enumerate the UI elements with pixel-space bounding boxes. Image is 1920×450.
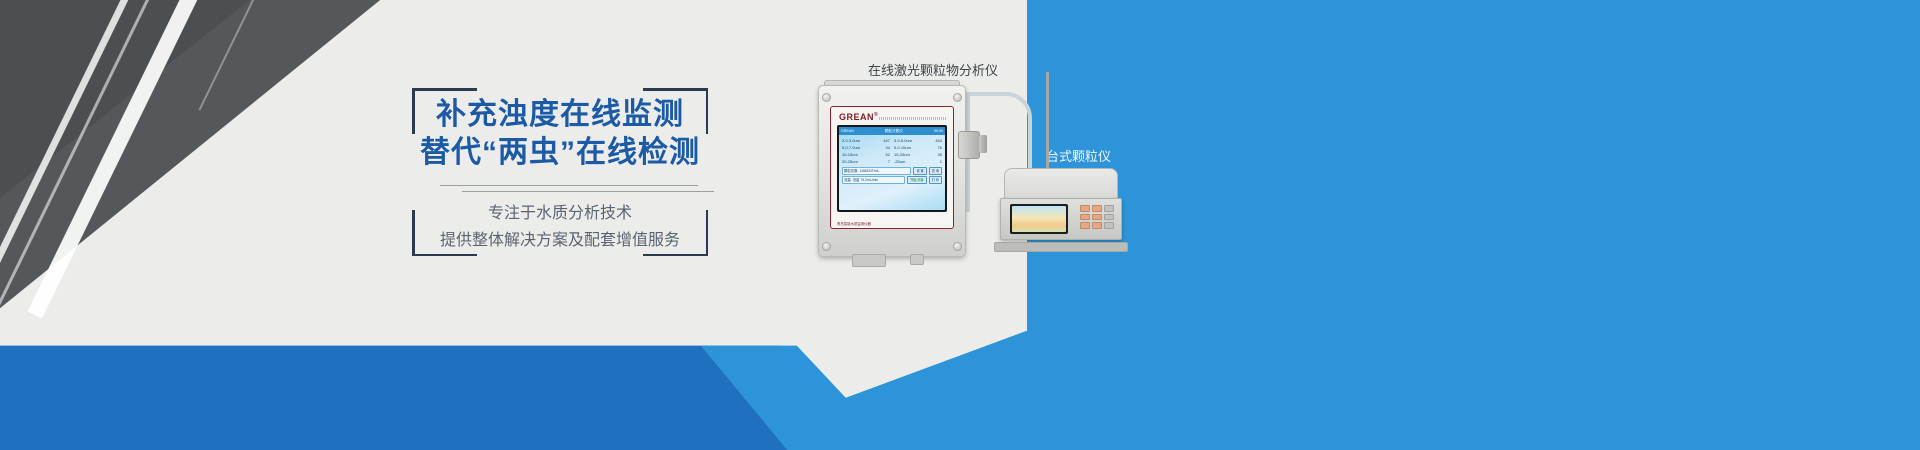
analyzer-brand: GREAN®	[839, 112, 878, 122]
lcd-query-button[interactable]: 查 询	[929, 167, 942, 175]
lcd-count-a: 52	[877, 151, 890, 158]
screw-icon	[822, 242, 831, 251]
keypad-key[interactable]	[1092, 222, 1102, 229]
subtitle: 专注于水质分析技术 提供整体解决方案及配套增值服务	[412, 200, 708, 254]
lcd-flow-field: 流量: 流量 79.2mL/min	[842, 176, 905, 184]
lcd-row-flow: 流量: 流量 79.2mL/min 开始 测量 打 印	[842, 176, 942, 184]
lcd-range-b: 3.0-5.0um	[890, 137, 929, 144]
lcd-range-a: 20-25um	[842, 158, 877, 165]
keypad-key[interactable]	[1104, 222, 1114, 229]
keypad-key[interactable]	[1080, 214, 1090, 221]
lcd-print-button[interactable]: 打 印	[929, 176, 942, 184]
divider-line-upper	[440, 185, 698, 186]
lcd-row-total: 颗粒总数: 1166CNT/mL 设 置 查 询	[842, 167, 942, 175]
keypad-key[interactable]	[1092, 214, 1102, 221]
lcd-start-button[interactable]: 开始 测量	[907, 176, 927, 184]
bench-base	[994, 242, 1128, 252]
lcd-range-b: -25um	[890, 158, 929, 165]
subtitle-line-1: 专注于水质分析技术	[412, 200, 708, 227]
headline-line-2: 替代“两虫”在线检测	[412, 134, 708, 172]
analyzer-brand-text: GREAN	[839, 112, 874, 122]
lcd-data-row: 2.0-3.0um 447 3.0-5.0um 454	[842, 137, 942, 144]
lcd-count-b: 76	[929, 144, 942, 151]
lcd-count-b: 1	[929, 158, 942, 165]
bracket-top-left-rule	[412, 88, 477, 91]
keypad-key[interactable]	[1080, 222, 1090, 229]
analyzer-bottom-port	[852, 254, 886, 267]
keypad-key[interactable]	[1092, 205, 1102, 212]
screw-icon	[822, 93, 831, 102]
subtitle-line-2: 提供整体解决方案及配套增值服务	[412, 227, 708, 254]
lcd-data-row: 5.0-7.0um 94 5.0-10um 76	[842, 144, 942, 151]
online-laser-particle-analyzer: GREAN® GREAN 颗粒计数仪 00:00 2.0-3.0um 447 3…	[818, 85, 966, 257]
registered-mark-icon: ®	[874, 112, 878, 118]
lcd-title-center: 颗粒计数仪	[885, 128, 903, 134]
lcd-count-a: 7	[877, 158, 890, 165]
bench-display-bezel	[1010, 204, 1068, 234]
lcd-data-row: 10-15um 52 15-20um 35	[842, 151, 942, 158]
lcd-title-right: 00:00	[934, 128, 943, 134]
analyzer-side-port-cap	[979, 135, 987, 153]
divider-group	[412, 185, 708, 195]
benchtop-particle-counter	[1000, 168, 1122, 246]
lcd-title-left: GREAN	[841, 128, 854, 134]
lcd-count-b: 35	[929, 151, 942, 158]
lcd-count-a: 447	[877, 137, 890, 144]
bench-keypad[interactable]	[1080, 205, 1114, 229]
lcd-count-a: 94	[877, 144, 890, 151]
hero-banner: 补充浊度在线监测 替代“两虫”在线检测 专注于水质分析技术 提供整体解决方案及配…	[0, 0, 1920, 450]
keypad-key[interactable]	[1104, 214, 1114, 221]
headline-line-1: 补充浊度在线监测	[412, 96, 708, 134]
bracket-top-right-rule	[643, 88, 708, 91]
analyzer-bottom-port-small	[910, 254, 924, 265]
analyzer-side-port	[958, 131, 980, 159]
lcd-titlebar: GREAN 颗粒计数仪 00:00	[839, 127, 945, 135]
lcd-total-field: 颗粒总数: 1166CNT/mL	[842, 167, 911, 175]
lcd-range-b: 5.0-10um	[890, 144, 929, 151]
headline-block: 补充浊度在线监测 替代“两虫”在线检测 专注于水质分析技术 提供整体解决方案及配…	[412, 88, 708, 256]
lcd-range-a: 5.0-7.0um	[842, 144, 877, 151]
divider-line-lower	[462, 191, 714, 192]
label-online-laser-particle-analyzer: 在线激光颗粒物分析仪	[868, 60, 998, 79]
lcd-range-a: 2.0-3.0um	[842, 137, 877, 144]
analyzer-lcd: GREAN 颗粒计数仪 00:00 2.0-3.0um 447 3.0-5.0u…	[839, 127, 945, 210]
lcd-settings-button[interactable]: 设 置	[913, 167, 926, 175]
keypad-key[interactable]	[1104, 205, 1114, 212]
lcd-range-a: 10-15um	[842, 151, 877, 158]
lcd-range-b: 15-20um	[890, 151, 929, 158]
headline: 补充浊度在线监测 替代“两虫”在线检测	[412, 96, 708, 172]
lcd-count-b: 454	[929, 137, 942, 144]
screw-icon	[953, 93, 962, 102]
analyzer-footnote: 青岛智能水质监测仪器	[837, 222, 871, 226]
analyzer-display-bezel: GREAN 颗粒计数仪 00:00 2.0-3.0um 447 3.0-5.0u…	[837, 125, 947, 212]
bench-lcd	[1012, 206, 1066, 232]
screw-icon	[953, 242, 962, 251]
lcd-footer: 颗粒总数: 1166CNT/mL 设 置 查 询 流量: 流量 79.2mL/m…	[842, 167, 942, 184]
lcd-data-grid: 2.0-3.0um 447 3.0-5.0um 454 5.0-7.0um 94…	[842, 137, 942, 165]
keypad-key[interactable]	[1080, 205, 1090, 212]
bench-sample-probe	[1046, 72, 1049, 172]
label-benchtop-particle-counter: 台式颗粒仪	[1046, 146, 1111, 165]
analyzer-front-panel: GREAN® GREAN 颗粒计数仪 00:00 2.0-3.0um 447 3…	[830, 106, 954, 229]
analyzer-brand-rule	[879, 117, 947, 120]
lcd-data-row: 20-25um 7 -25um 1	[842, 158, 942, 165]
